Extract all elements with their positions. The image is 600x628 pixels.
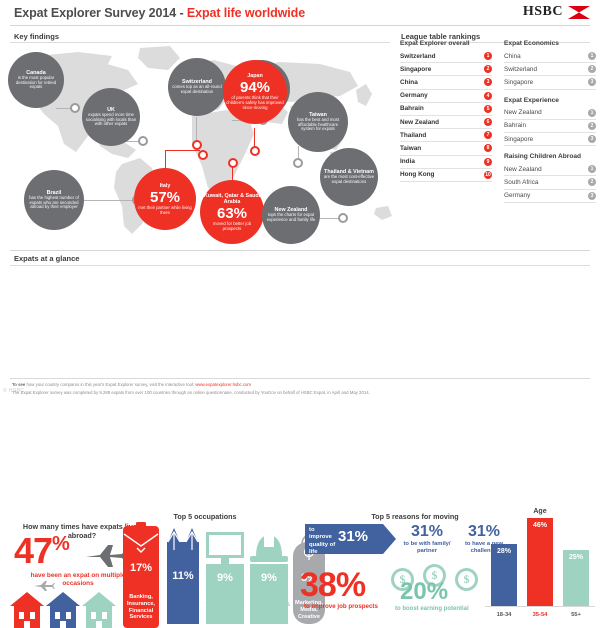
occupation-label-3: Telecoms, IT & Internet: [203, 602, 247, 616]
footer-divider: [10, 378, 590, 379]
map-bubble-thailand-vietnam[interactable]: Thailand & Vietnam are the most cost-eff…: [320, 148, 378, 206]
league-country: Singapore: [504, 136, 533, 143]
league-country: Taiwan: [400, 145, 421, 152]
occupations-title: Top 5 occupations: [120, 512, 290, 521]
lived-abroad-number: 47: [14, 530, 52, 571]
league-country: Singapore: [504, 79, 533, 86]
league-rank-badge: 2: [588, 65, 596, 73]
league-row[interactable]: China1: [504, 50, 596, 63]
league-row[interactable]: Germany3: [504, 190, 596, 203]
lived-abroad-percent-sign: %: [52, 533, 69, 555]
bubble-country: Italy: [160, 183, 171, 189]
reason-earning-pct: 20%: [400, 580, 448, 604]
league-rank-badge: 1: [588, 52, 596, 60]
league-row[interactable]: South Africa2: [504, 176, 596, 189]
reason-arrow-label: to improve quality of life: [309, 527, 337, 557]
map-node-uk: [138, 136, 148, 146]
map-node-gulf: [228, 158, 238, 168]
league-country: New Zealand: [400, 119, 439, 126]
bubble-text: are the most cost-effective expat destin…: [323, 175, 375, 185]
header-divider: [10, 25, 590, 26]
page-title: Expat Explorer Survey 2014 - Expat life …: [14, 6, 305, 20]
house-icon-green: [82, 592, 116, 628]
age-bar-55-plus: 25% 55+: [563, 550, 589, 606]
bubble-text: of parents think that their children's s…: [226, 96, 284, 111]
league-country: Bahrain: [504, 122, 526, 129]
age-bar-fill: [527, 518, 553, 606]
league-row[interactable]: Singapore3: [504, 133, 596, 146]
map-bubble-italy[interactable]: Italy 57% met their partner while living…: [134, 168, 196, 230]
footer-lead: To see: [12, 382, 25, 387]
bubble-text: has the highest number of expats who are…: [27, 196, 81, 211]
map-node-canada: [70, 103, 80, 113]
age-bar-label: 55+: [559, 612, 593, 618]
league-column-overall: Expat Explorer overall Switzerland1 Sing…: [400, 40, 492, 182]
league-country: Bahrain: [400, 105, 424, 112]
bubble-text: met their partner while living there: [137, 206, 193, 216]
league-country: Thailand: [400, 132, 426, 139]
reasons-title: Top 5 reasons for moving: [340, 512, 490, 521]
league-heading: Raising Children Abroad: [504, 153, 596, 160]
league-country: Hong Kong: [400, 171, 434, 178]
map-node-japan: [250, 146, 260, 156]
league-row[interactable]: Germany4: [400, 90, 492, 103]
bubble-text: expats spend more time socialising with …: [85, 113, 137, 128]
occupation-pct-2: 11%: [166, 570, 200, 582]
league-spacer: [504, 90, 596, 97]
league-country: Germany: [504, 192, 530, 199]
league-row[interactable]: Bahrain5: [400, 103, 492, 116]
world-map-panel: Canada is the most popular destination f…: [0, 40, 392, 245]
occupation-pct-4: 9%: [250, 572, 288, 584]
house-icon-red: [10, 592, 44, 628]
page-header: Expat Explorer Survey 2014 - Expat life …: [0, 0, 600, 26]
league-rank-badge: 2: [484, 65, 492, 73]
reason-label: to be with family/ partner: [398, 541, 456, 555]
league-rank-badge: 6: [484, 118, 492, 126]
footer-line-1: To see how your country compares in this…: [12, 382, 251, 388]
map-bubble-switzerland[interactable]: Switzerland comes top as an all-round ex…: [168, 58, 226, 116]
league-spacer: [504, 146, 596, 153]
age-bar-value: 46%: [527, 522, 553, 529]
occupation-label-2: Education: [160, 606, 206, 613]
bubble-text: has the best and most affordable healthc…: [291, 118, 345, 133]
league-row[interactable]: Singapore2: [400, 63, 492, 76]
occupation-pct-3: 9%: [206, 572, 244, 584]
house-icon-blue: [46, 592, 80, 628]
league-country: South Africa: [504, 179, 538, 186]
occupation-label-1: Banking, Insurance, Financial Services: [120, 594, 162, 621]
reason-jobs-pct: 38%: [300, 568, 365, 602]
houses-icon-group: [8, 590, 118, 628]
league-row[interactable]: Switzerland2: [504, 63, 596, 76]
map-bubble-newzealand[interactable]: New Zealand tops the charts for expat ex…: [262, 186, 320, 244]
league-rank-badge: 1: [588, 165, 596, 173]
connector-brazil: [82, 200, 136, 201]
league-row[interactable]: India9: [400, 156, 492, 169]
map-bubble-uk[interactable]: UK expats spend more time socialising wi…: [82, 88, 140, 146]
plane-arrow-icon: [383, 524, 396, 554]
league-row[interactable]: New Zealand1: [504, 107, 596, 120]
bubble-text: moved for better job prospects: [203, 222, 261, 232]
map-bubble-taiwan[interactable]: Taiwan has the best and most affordable …: [288, 92, 348, 152]
page-title-main: Expat Explorer Survey 2014 -: [14, 6, 187, 20]
league-rank-badge: 4: [484, 92, 492, 100]
bubble-text: tops the charts for expat experience and…: [265, 213, 317, 223]
league-country: China: [400, 79, 418, 86]
map-bubble-japan[interactable]: Japan 94% of parents think that their ch…: [223, 60, 287, 124]
league-country: Germany: [400, 92, 428, 99]
hsbc-logo: HSBC: [523, 4, 590, 20]
reason-item-family: 31% to be with family/ partner: [398, 524, 456, 555]
league-rank-badge: 9: [484, 158, 492, 166]
occupation-pct-1: 17%: [122, 562, 160, 574]
league-row[interactable]: Bahrain2: [504, 120, 596, 133]
league-row[interactable]: Singapore3: [504, 76, 596, 89]
league-row[interactable]: New Zealand6: [400, 116, 492, 129]
infographic-page: Expat Explorer Survey 2014 - Expat life …: [0, 0, 600, 400]
map-node-italy: [198, 150, 208, 160]
league-rank-badge: 5: [484, 105, 492, 113]
map-bubble-canada[interactable]: Canada is the most popular destination f…: [8, 52, 64, 108]
league-row[interactable]: Hong Kong10: [400, 169, 492, 182]
hsbc-wordmark: HSBC: [523, 4, 563, 20]
league-rank-badge: 3: [588, 78, 596, 86]
money-icon-3: $: [455, 568, 478, 591]
league-country: Switzerland: [400, 53, 436, 60]
age-chart-axis: [485, 606, 595, 607]
league-column-side: Expat Economics China1 Switzerland2 Sing…: [504, 40, 596, 203]
league-rank-badge: 3: [484, 78, 492, 86]
bubble-stat: 94%: [240, 80, 270, 95]
age-bar-label: 18-34: [487, 612, 521, 618]
reason-earning-label: to boost earning potential: [395, 606, 469, 612]
hsbc-hexagon-icon: [568, 6, 590, 19]
bubble-text: is the most popular destination for reti…: [11, 76, 61, 91]
league-rank-badge: 10: [484, 171, 492, 179]
league-row[interactable]: New Zealand1: [504, 163, 596, 176]
occupation-label-4: Construction & Engineering: [248, 602, 292, 616]
footer-text: how your country compares in this year's…: [25, 382, 195, 387]
league-country: Switzerland: [504, 66, 537, 73]
league-rank-badge: 2: [588, 122, 596, 130]
league-heading: Expat Economics: [504, 40, 596, 47]
league-country: India: [400, 158, 415, 165]
league-rank-badge: 3: [588, 192, 596, 200]
bubble-text: comes top as an all-round expat destinat…: [171, 85, 223, 95]
reason-jobs-label: to improve job prospects: [304, 603, 378, 610]
map-bubble-brazil[interactable]: Brazil has the highest number of expats …: [24, 170, 84, 230]
age-bar-value: 25%: [563, 554, 589, 561]
league-rank-badge: 8: [484, 144, 492, 152]
reason-pct: 31%: [398, 524, 456, 540]
watermark: © HSBC: [3, 388, 24, 394]
league-row[interactable]: Taiwan8: [400, 142, 492, 155]
map-node-newzealand: [338, 213, 348, 223]
map-bubble-gulf[interactable]: Kuwait, Qatar & Saudi Arabia 63% moved f…: [200, 180, 264, 244]
age-bar-18-34: 28% 18-34: [491, 544, 517, 606]
league-row[interactable]: Switzerland1: [400, 50, 492, 63]
league-heading: Expat Experience: [504, 97, 596, 104]
league-rank-badge: 2: [588, 178, 596, 186]
league-row[interactable]: Thailand7: [400, 129, 492, 142]
league-country: New Zealand: [504, 109, 542, 116]
glance-panel: How many times have expats lived abroad?…: [0, 250, 600, 378]
footer-link[interactable]: www.expatexplorer.hsbc.com: [195, 382, 251, 387]
age-chart-title: Age: [485, 508, 595, 515]
league-country: Singapore: [400, 66, 431, 73]
reason-arrow-pct: 31%: [338, 529, 368, 544]
footer-line-2: The Expat Explorer survey was completed …: [12, 390, 370, 396]
bubble-stat: 57%: [150, 190, 180, 205]
league-rank-badge: 7: [484, 131, 492, 139]
bubble-country: Kuwait, Qatar & Saudi Arabia: [203, 193, 261, 205]
map-node-switzerland: [192, 140, 202, 150]
age-bar-label: 35-54: [523, 612, 557, 618]
league-rank-badge: 1: [588, 109, 596, 117]
connector-italy-h: [165, 150, 200, 151]
league-row[interactable]: China3: [400, 76, 492, 89]
age-bar-35-54: 46% 35-54: [527, 518, 553, 606]
bubble-stat: 63%: [217, 206, 247, 221]
league-rank-badge: 3: [588, 135, 596, 143]
age-chart: Age 28% 18-34 46% 35-54 25% 55+: [485, 508, 595, 620]
league-heading: Expat Explorer overall: [400, 40, 492, 47]
league-rank-badge: 1: [484, 52, 492, 60]
lived-abroad-value: 47%: [14, 533, 69, 569]
age-bar-value: 28%: [491, 548, 517, 555]
league-country: China: [504, 53, 521, 60]
page-title-accent: Expat life worldwide: [187, 6, 305, 20]
league-country: New Zealand: [504, 166, 542, 173]
map-node-taiwan: [293, 158, 303, 168]
